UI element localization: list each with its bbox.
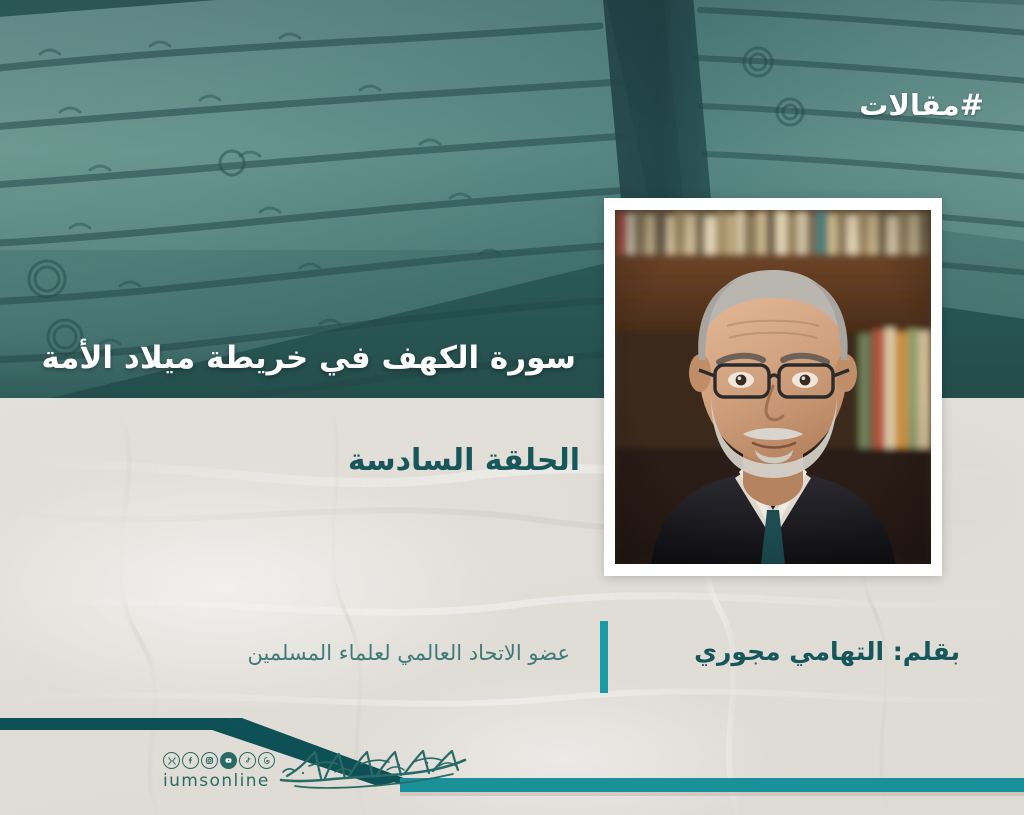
page-title: سورة الكهف في خريطة ميلاد الأمة: [41, 340, 576, 376]
x-icon[interactable]: [163, 752, 180, 769]
iums-arabic-calligraphy-logo: [275, 746, 471, 792]
footer-decorative-lines: [0, 700, 1024, 815]
page-subtitle: الحلقة السادسة: [348, 443, 580, 478]
author-portrait-crop: [615, 210, 931, 564]
category-hashtag[interactable]: #مقالات: [859, 88, 984, 122]
author-byline: بقلم: التهامي مجوري: [694, 637, 960, 666]
author-portrait-frame: [604, 198, 942, 576]
tiktok-icon[interactable]: [239, 752, 256, 769]
threads-icon[interactable]: [258, 752, 275, 769]
brand-handle[interactable]: iumsonline: [163, 771, 270, 791]
author-role: عضو الاتحاد العالمي لعلماء المسلمين: [248, 641, 570, 665]
author-portrait: [615, 210, 931, 564]
social-links: [163, 752, 275, 769]
footer-logo: iumsonline: [163, 748, 468, 796]
instagram-icon[interactable]: [201, 752, 218, 769]
article-promo-card: #مقالات سورة الكهف في خريطة ميلاد الأمة …: [0, 0, 1024, 815]
youtube-icon[interactable]: [220, 752, 237, 769]
author-divider: [600, 621, 608, 693]
facebook-icon[interactable]: [182, 752, 199, 769]
